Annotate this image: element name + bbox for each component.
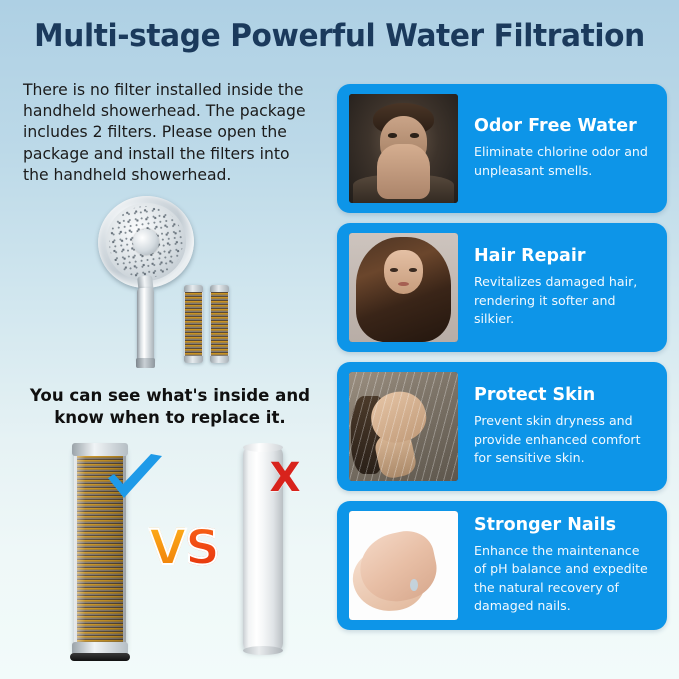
- benefit-card-text: Protect Skin Prevent skin dryness and pr…: [458, 386, 655, 467]
- intro-paragraph: There is no filter installed inside the …: [23, 80, 319, 186]
- mini-filter-cap-bottom: [210, 356, 229, 363]
- benefit-card-stronger-nails[interactable]: Stronger Nails Enhance the maintenance o…: [337, 501, 667, 630]
- mini-filter-cap-top: [184, 285, 203, 292]
- filter-cap-top: [72, 443, 128, 456]
- mini-filter-cap-bottom: [184, 356, 203, 363]
- subheading: You can see what's inside and know when …: [14, 385, 326, 429]
- showerhead-hose-connector: [136, 358, 155, 368]
- benefit-card-text: Odor Free Water Eliminate chlorine odor …: [458, 117, 655, 180]
- showerhead-illustration: [98, 196, 194, 368]
- mini-filter-cap-top: [210, 285, 229, 292]
- benefit-card-description: Revitalizes damaged hair, rendering it s…: [474, 273, 651, 328]
- benefit-card-title: Odor Free Water: [474, 117, 651, 136]
- cupped-hands-with-water-photo: [349, 511, 458, 620]
- vs-letter-v: V: [149, 520, 185, 576]
- page-title: Multi-stage Powerful Water Filtration: [15, 18, 663, 54]
- benefit-card-hair-repair[interactable]: Hair Repair Revitalizes damaged hair, re…: [337, 223, 667, 352]
- benefit-card-thumbnail: [349, 372, 458, 481]
- showerhead-handle: [137, 288, 154, 362]
- benefit-card-text: Stronger Nails Enhance the maintenance o…: [458, 516, 655, 615]
- mini-filter-bead-layers: [185, 292, 202, 356]
- benefit-card-thumbnail: [349, 233, 458, 342]
- benefit-card-description: Enhance the maintenance of pH balance an…: [474, 542, 651, 615]
- woman-in-shower-photo: [349, 372, 458, 481]
- mini-filter-cartridge-2: [210, 285, 229, 363]
- x-mark-icon: X: [262, 455, 308, 501]
- woman-long-wavy-hair-photo: [349, 233, 458, 342]
- benefit-card-title: Hair Repair: [474, 247, 651, 266]
- vs-letter-s: S: [185, 520, 219, 576]
- man-covering-nose-photo: [349, 94, 458, 203]
- infographic-canvas: Multi-stage Powerful Water Filtration Th…: [0, 0, 679, 679]
- benefit-card-list: Odor Free Water Eliminate chlorine odor …: [337, 84, 667, 640]
- benefit-card-title: Stronger Nails: [474, 516, 651, 535]
- filter-o-ring: [70, 653, 130, 661]
- benefit-card-title: Protect Skin: [474, 386, 651, 405]
- benefit-card-description: Eliminate chlorine odor and unpleasant s…: [474, 143, 651, 180]
- check-mark-icon: [104, 452, 166, 504]
- benefit-card-text: Hair Repair Revitalizes damaged hair, re…: [458, 247, 655, 328]
- benefit-card-odor-free-water[interactable]: Odor Free Water Eliminate chlorine odor …: [337, 84, 667, 213]
- benefit-card-protect-skin[interactable]: Protect Skin Prevent skin dryness and pr…: [337, 362, 667, 491]
- mini-filter-cartridge-1: [184, 285, 203, 363]
- benefit-card-description: Prevent skin dryness and provide enhance…: [474, 412, 651, 467]
- benefit-card-thumbnail: [349, 94, 458, 203]
- vs-label: VS: [142, 519, 226, 577]
- mini-filter-bead-layers: [211, 292, 228, 356]
- benefit-card-thumbnail: [349, 511, 458, 620]
